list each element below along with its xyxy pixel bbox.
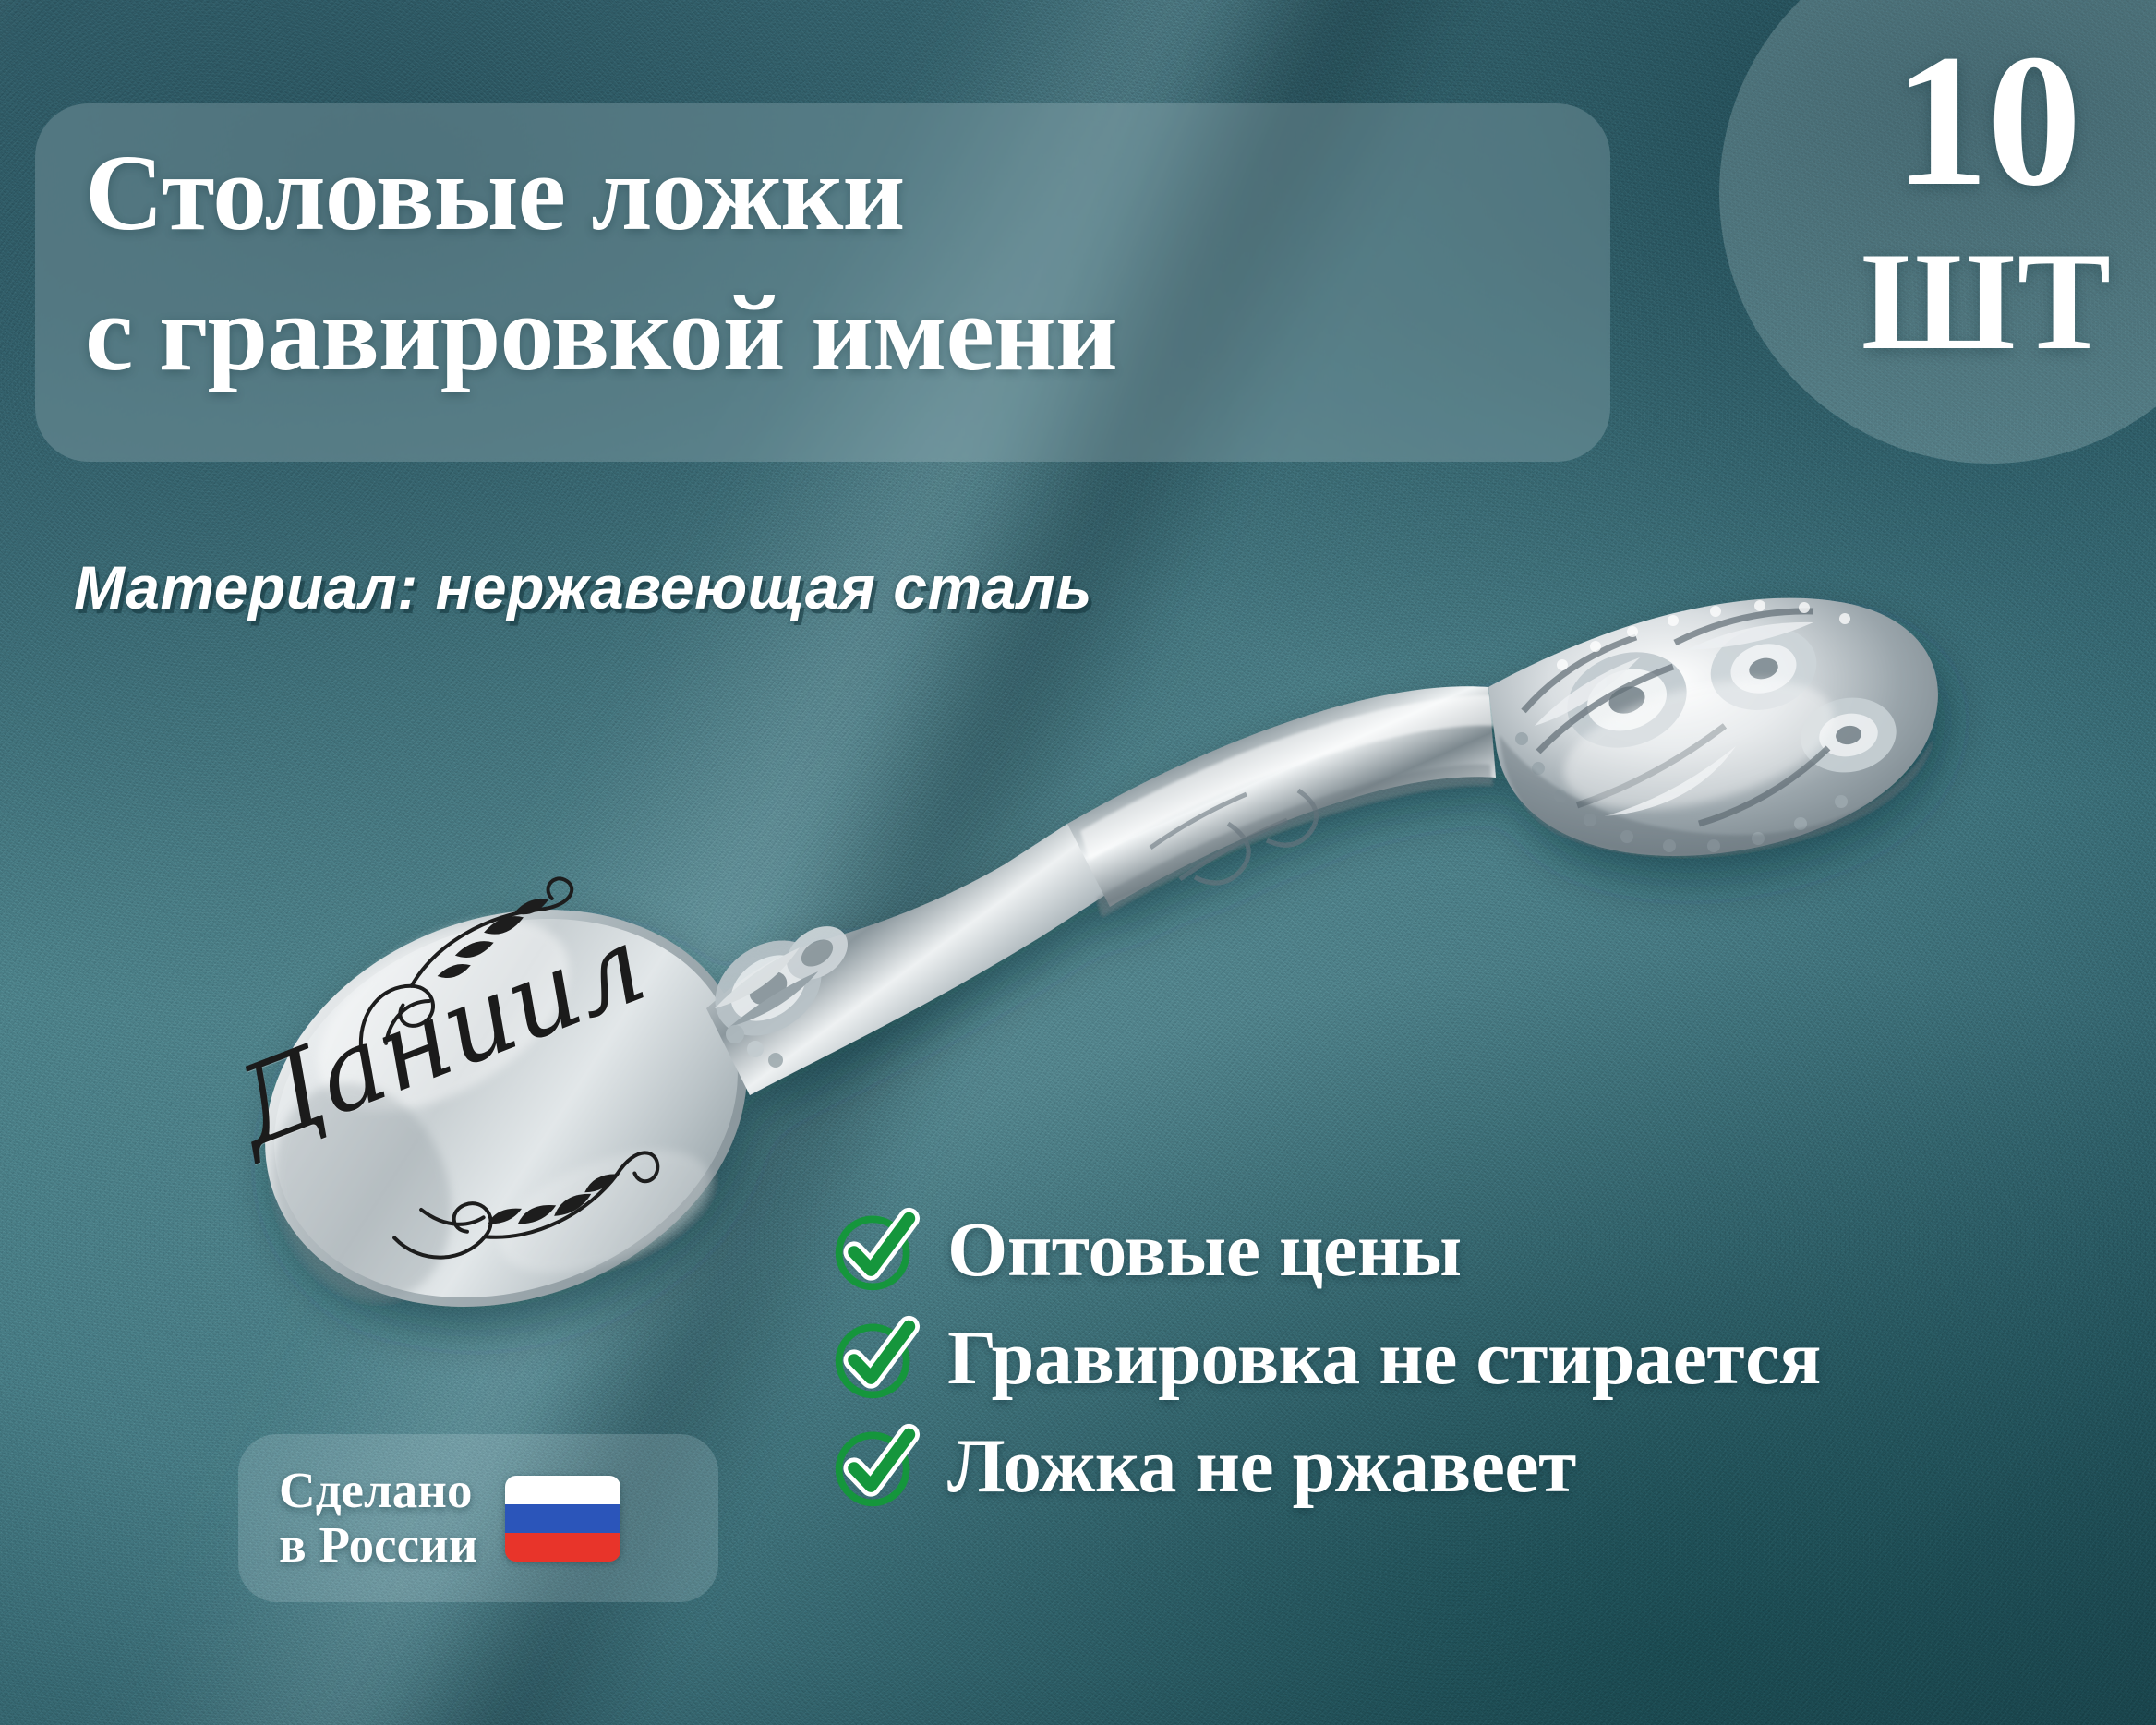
feature-list: Оптовые цены Гравировка не стирается xyxy=(831,1200,2124,1525)
flag-stripe-red xyxy=(505,1533,620,1562)
flag-stripe-white xyxy=(505,1476,620,1504)
made-in-russia-text: Сделано в России xyxy=(279,1464,477,1573)
title-panel: Столовые ложки с гравировкой имени xyxy=(35,103,1610,462)
made-in-russia-badge: Сделано в России xyxy=(238,1434,718,1602)
russia-flag-icon xyxy=(505,1476,620,1562)
product-marketing-card: Столовые ложки с гравировкой имени 10 ШТ… xyxy=(0,0,2156,1725)
feature-item-3: Ложка не ржавеет xyxy=(831,1417,2124,1515)
feature-label: Гравировка не стирается xyxy=(947,1320,1821,1397)
feature-item-2: Гравировка не стирается xyxy=(831,1309,2124,1407)
made-in-line-2: в России xyxy=(279,1518,477,1573)
quantity-number: 10 xyxy=(1793,31,2156,211)
page-title-line-2: с гравировкой имени xyxy=(85,279,1117,388)
feature-item-1: Оптовые цены xyxy=(831,1200,2124,1299)
made-in-line-1: Сделано xyxy=(279,1464,477,1518)
flag-stripe-blue xyxy=(505,1504,620,1533)
feature-label: Оптовые цены xyxy=(947,1212,1462,1289)
feature-label: Ложка не ржавеет xyxy=(947,1428,1576,1505)
quantity-unit: ШТ xyxy=(1793,231,2156,371)
check-circle-icon xyxy=(831,1422,920,1511)
check-circle-icon xyxy=(831,1314,920,1403)
check-circle-icon xyxy=(831,1206,920,1295)
page-title-line-1: Столовые ложки xyxy=(85,139,904,247)
